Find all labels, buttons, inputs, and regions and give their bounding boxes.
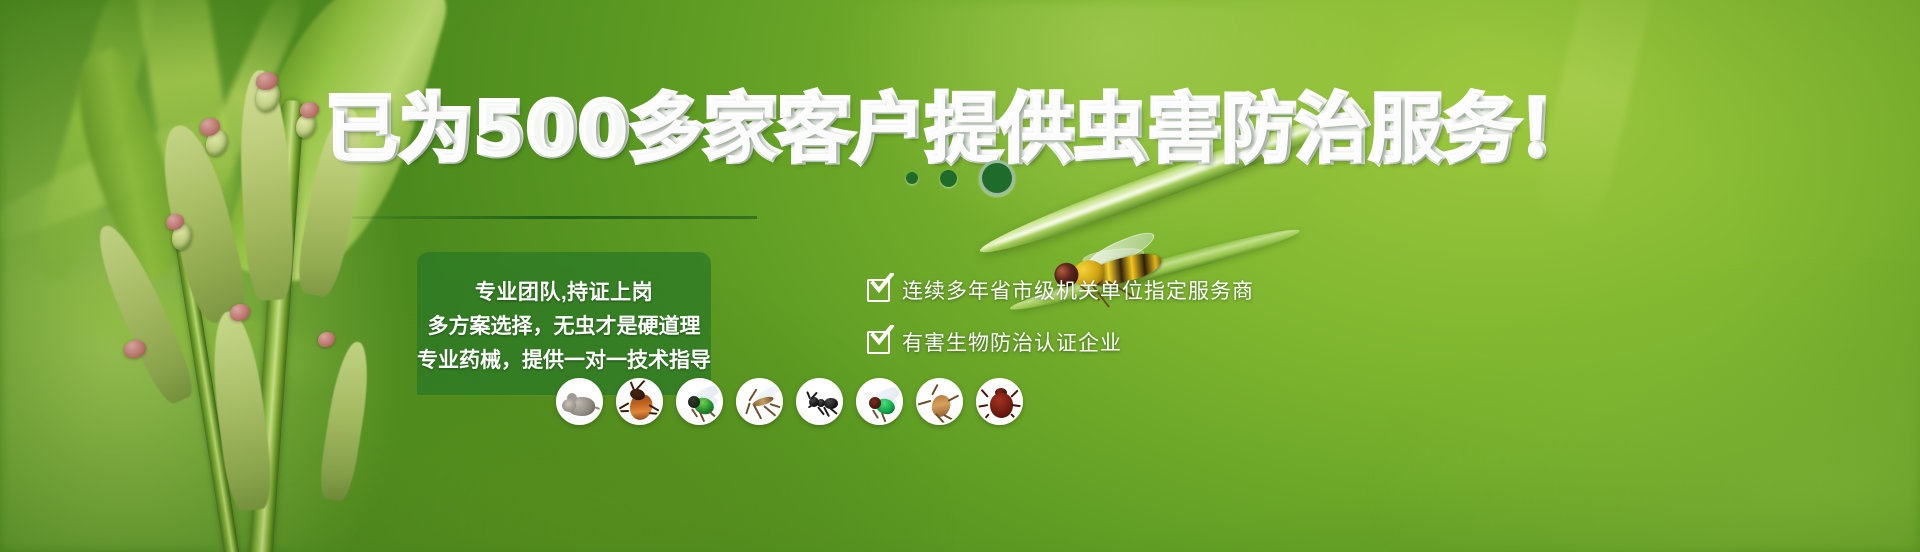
checklist-item-label: 有害生物防治认证企业 (902, 327, 1122, 357)
bedbug-icon[interactable] (976, 378, 1023, 425)
pest-icon-strip (556, 378, 1023, 425)
decorative-dots (0, 160, 1920, 196)
dot-small-icon (906, 172, 918, 184)
checkbox-checked-icon (867, 279, 890, 302)
green-fly-icon[interactable] (676, 378, 723, 425)
pink-bud (318, 332, 335, 347)
dot-big-icon (979, 160, 1015, 196)
dot-mid-icon (940, 170, 957, 187)
blowfly-icon[interactable] (856, 378, 903, 425)
promo-banner: 已为500多家客户提供虫害防治服务！ 专业团队,持证上岗 多方案选择，无虫才是硬… (0, 0, 1920, 552)
feature-highlight-box: 专业团队,持证上岗 多方案选择，无虫才是硬道理 专业药械，提供一对一技术指导 (417, 252, 711, 395)
checkbox-checked-icon (867, 331, 890, 354)
cockroach-icon[interactable] (616, 378, 663, 425)
banner-headline-text: 已为500多家客户提供虫害防治服务！ (327, 87, 1593, 171)
credentials-checklist: 连续多年省市级机关单位指定服务商 有害生物防治认证企业 (867, 275, 1254, 357)
feature-line-2: 多方案选择，无虫才是硬道理 (428, 310, 701, 340)
feature-line-1: 专业团队,持证上岗 (475, 276, 653, 306)
mouse-icon[interactable] (556, 378, 603, 425)
checklist-item: 有害生物防治认证企业 (867, 327, 1254, 357)
flea-icon[interactable] (916, 378, 963, 425)
ant-icon[interactable] (796, 378, 843, 425)
checklist-item-label: 连续多年省市级机关单位指定服务商 (902, 275, 1254, 305)
pink-bud (230, 304, 250, 321)
mosquito-icon[interactable] (736, 378, 783, 425)
feature-line-3: 专业药械，提供一对一技术指导 (417, 344, 711, 374)
flower-spike (316, 339, 375, 502)
checklist-item: 连续多年省市级机关单位指定服务商 (867, 275, 1254, 305)
divider-rule (352, 216, 757, 219)
